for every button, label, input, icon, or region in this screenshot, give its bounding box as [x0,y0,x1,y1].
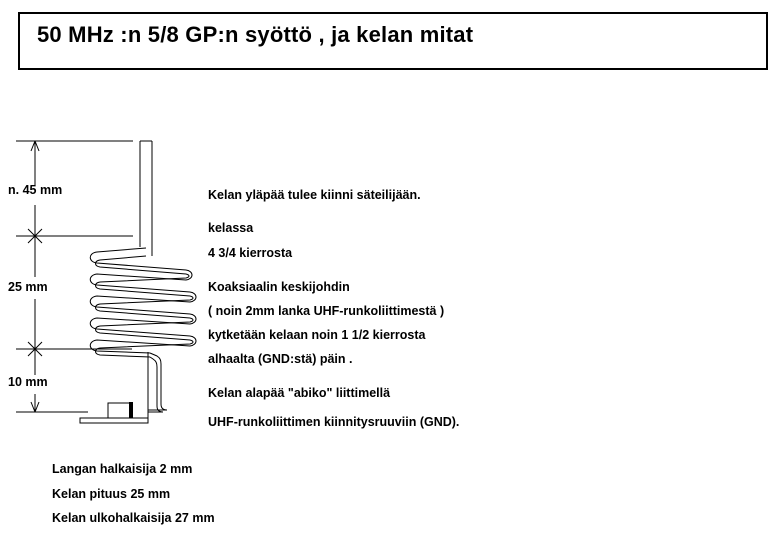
annotation-bottom-note-1: Kelan alapää "abiko" liittimellä [208,387,390,400]
dimension-label-45mm: n. 45 mm [8,184,62,197]
spec-wire-diameter: Langan halkaisija 2 mm [52,463,192,476]
spec-coil-length: Kelan pituus 25 mm [52,488,170,501]
annotation-coax-line-1: Koaksiaalin keskijohdin [208,281,350,294]
dimension-extension-lines [16,141,133,412]
diagram-canvas: 50 MHz :n 5/8 GP:n syöttö , ja kelan mit… [0,0,780,540]
annotation-coax-line-4: alhaalta (GND:stä) päin . [208,353,352,366]
ground-plate [80,418,148,423]
annotation-turns-label: kelassa [208,222,253,235]
radiator-wire [140,141,152,256]
drawing-layer [0,0,780,540]
spec-coil-outer-diameter: Kelan ulkohalkaisija 27 mm [52,512,215,525]
feed-wire [148,352,167,420]
annotation-coax-line-2: ( noin 2mm lanka UHF-runkoliittimestä ) [208,305,444,318]
dimension-label-25mm: 25 mm [8,281,48,294]
annotation-turns-count: 4 3/4 kierrosta [208,247,292,260]
annotation-coax-line-3: kytketään kelaan noin 1 1/2 kierrosta [208,329,425,342]
helical-coil [90,248,196,357]
annotation-bottom-note-2: UHF-runkoliittimen kiinnitysruuviin (GND… [208,416,459,429]
dimension-label-10mm: 10 mm [8,376,48,389]
annotation-coil-top-note: Kelan yläpää tulee kiinni säteilijään. [208,189,421,202]
